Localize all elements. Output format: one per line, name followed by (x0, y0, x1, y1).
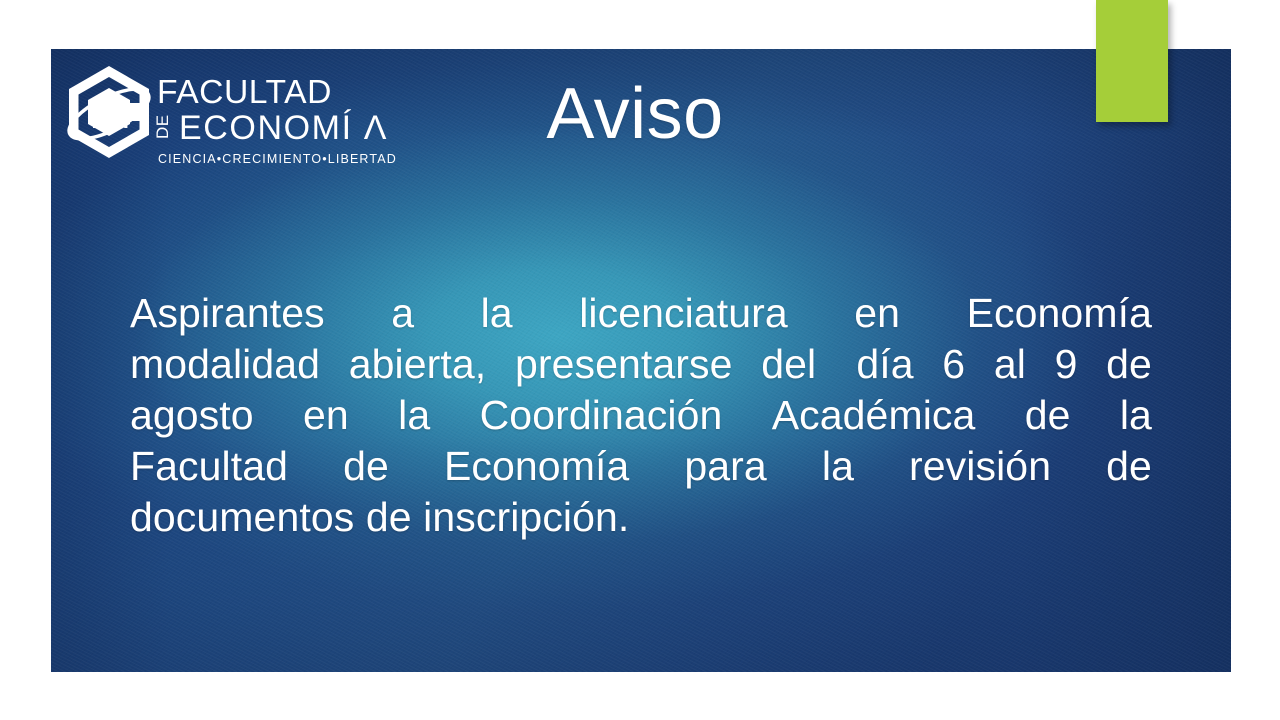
body-word: de (1025, 390, 1071, 441)
body-word: Economía (444, 441, 629, 492)
body-word: de (1106, 339, 1152, 390)
body-word: revisión (909, 441, 1051, 492)
body-word: de (343, 441, 389, 492)
body-word: al (994, 339, 1026, 390)
body-word: la (398, 390, 430, 441)
body-word: 6 (942, 339, 965, 390)
body-word: licenciatura (579, 288, 788, 339)
body-word: para (684, 441, 766, 492)
slide-body-text: AspirantesalalicenciaturaenEconomía moda… (130, 288, 1152, 543)
hexagon-bar-chart-emblem-icon (63, 64, 155, 160)
body-word: la (822, 441, 854, 492)
logo-text-facultad: FACULTAD (157, 75, 332, 108)
body-word: agosto (130, 390, 254, 441)
slide-canvas: FACULTAD DE ECONOMÍ Λ CIENCIA•CRECIMIENT… (0, 0, 1280, 720)
body-word: 9 (1055, 339, 1078, 390)
body-word: Académica (772, 390, 976, 441)
slide-title: Aviso (470, 72, 800, 156)
body-word: la (1120, 390, 1152, 441)
body-line: agostoenlaCoordinaciónAcadémicadela (130, 390, 1152, 441)
body-word: Coordinación (480, 390, 723, 441)
body-word: Economía (967, 288, 1152, 339)
logo-text-economia: ECONOMÍ Λ (179, 110, 388, 146)
body-line: AspirantesalalicenciaturaenEconomía (130, 288, 1152, 339)
body-word: en (854, 288, 900, 339)
body-word: del (761, 339, 816, 390)
body-line: documentos de inscripción. (130, 492, 1152, 543)
body-line: FacultaddeEconomíaparalarevisiónde (130, 441, 1152, 492)
body-word: presentarse (515, 339, 733, 390)
body-word: de (1106, 441, 1152, 492)
body-word: día (845, 339, 914, 390)
body-word: Aspirantes (130, 288, 325, 339)
body-word: en (303, 390, 349, 441)
body-word: modalidad (130, 339, 320, 390)
logo-tagline: CIENCIA•CRECIMIENTO•LIBERTAD (158, 152, 397, 166)
faculty-logo: FACULTAD DE ECONOMÍ Λ CIENCIA•CRECIMIENT… (63, 62, 411, 174)
body-word: a (391, 288, 414, 339)
body-line: modalidadabierta,presentarsedel día6al9d… (130, 339, 1152, 390)
body-word: Facultad (130, 441, 288, 492)
logo-wordmark: FACULTAD DE ECONOMÍ Λ CIENCIA•CRECIMIENT… (156, 62, 411, 174)
body-word: la (481, 288, 513, 339)
green-accent-bar (1096, 0, 1168, 122)
body-word: abierta, (349, 339, 487, 390)
